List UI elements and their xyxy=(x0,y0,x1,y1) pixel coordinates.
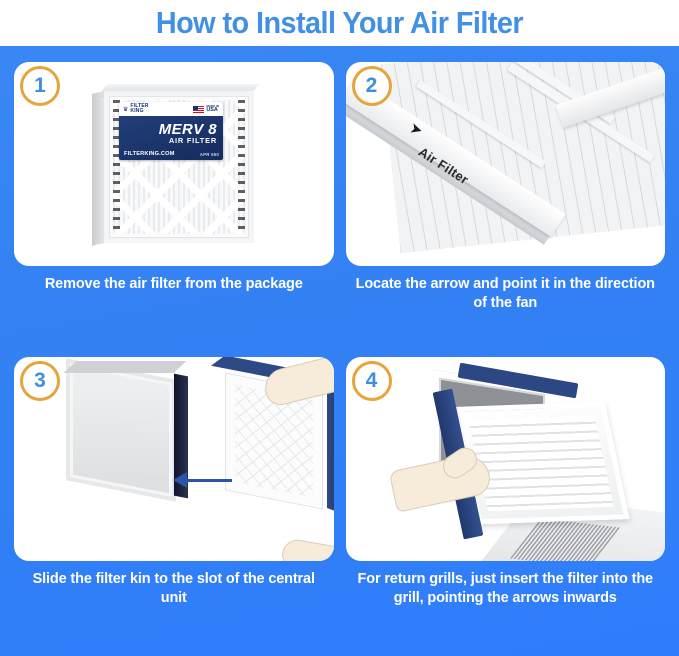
lower-hand-illustration xyxy=(280,537,333,561)
step-1-card: ♛ FILTER KING xyxy=(14,62,334,266)
page-title: How to Install Your Air Filter xyxy=(156,5,523,41)
filter-front-face: ♛ FILTER KING xyxy=(104,91,254,243)
step-3: 3 Slide the filter kin to the slot of th… xyxy=(14,357,334,646)
apr-rating: APR 650 xyxy=(200,152,219,157)
insert-direction-arrow-icon xyxy=(186,479,232,482)
header-bar: How to Install Your Air Filter xyxy=(0,0,679,46)
made-in-usa-text: MADE IN USA xyxy=(206,105,219,113)
website-url: FILTERKING.COM xyxy=(124,151,175,157)
step-4-artwork xyxy=(346,357,666,561)
step-1-caption: Remove the air filter from the package xyxy=(14,275,334,294)
crown-icon: ♛ xyxy=(123,106,128,113)
filter-label: ♛ FILTER KING xyxy=(119,102,223,160)
step-2-artwork: ➤ Air Filter xyxy=(346,62,666,266)
step-2-number-badge: 2 xyxy=(352,66,392,106)
filter-label-footer: FILTERKING.COM APR 650 xyxy=(124,151,219,157)
made-in-usa-badge: MADE IN USA xyxy=(193,105,219,113)
step-2-card: ➤ Air Filter 2 xyxy=(346,62,666,266)
grill-louvers xyxy=(468,415,613,511)
filter-label-header: ♛ FILTER KING xyxy=(119,102,223,116)
filter-king-logo: ♛ FILTER KING xyxy=(123,104,149,115)
central-unit-housing xyxy=(66,358,176,501)
step-1-artwork: ♛ FILTER KING xyxy=(14,62,334,266)
step-3-number-badge: 3 xyxy=(20,361,60,401)
air-filter-product-image: ♛ FILTER KING xyxy=(92,84,258,247)
product-type-label: AIR FILTER xyxy=(119,136,217,145)
step-4-card: 4 xyxy=(346,357,666,561)
steps-grid: ♛ FILTER KING xyxy=(0,46,679,656)
step-2: ➤ Air Filter 2 Locate the arrow and poin… xyxy=(346,62,666,351)
step-3-card: 3 xyxy=(14,357,334,561)
step-4: 4 For return grills, just insert the fil… xyxy=(346,357,666,646)
step-4-caption: For return grills, just insert the filte… xyxy=(346,570,666,607)
usa-flag-icon xyxy=(193,106,204,113)
step-3-caption: Slide the filter kin to the slot of the … xyxy=(14,570,334,607)
brand-name: FILTER KING xyxy=(130,104,148,115)
step-1: ♛ FILTER KING xyxy=(14,62,334,351)
filter-right-pleat-bars xyxy=(238,100,245,234)
step-1-number-badge: 1 xyxy=(20,66,60,106)
central-unit-top xyxy=(64,361,187,373)
how-to-install-air-filter-infographic: How to Install Your Air Filter xyxy=(0,0,679,656)
filter-blue-side-edge xyxy=(327,380,334,513)
step-3-artwork xyxy=(14,357,334,561)
step-2-caption: Locate the arrow and point it in the dir… xyxy=(346,275,666,312)
step-4-number-badge: 4 xyxy=(352,361,392,401)
